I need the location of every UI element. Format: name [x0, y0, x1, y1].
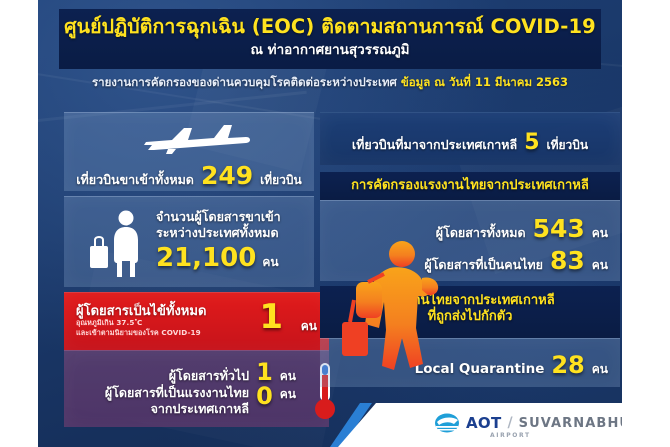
breakdown-korea-worker-unit: คน	[280, 385, 296, 404]
breakdown-row-korea-worker: ผู้โดยสารที่เป็นแรงงานไทย จากประเทศเกาหล…	[64, 385, 296, 416]
aot-swoosh-icon	[434, 413, 460, 433]
card-fever-breakdown: ผู้โดยสารทั่วไป 1 คน ผู้โดยสารที่เป็นแรง…	[64, 350, 329, 427]
screening-thai-unit: คน	[592, 256, 608, 275]
korea-flights-label: เที่ยวบินที่มาจากประเทศเกาหลี	[352, 137, 517, 153]
fever-criteria-line1: อุณหภูมิเกิน 37.5 ํC	[76, 318, 201, 328]
breakdown-korea-worker-label-line2: จากประเทศเกาหลี	[151, 401, 249, 416]
page-title: ศูนย์ปฏิบัติการฉุกเฉิน (EOC) ติดตามสถานก…	[59, 15, 601, 38]
airplane-icon	[142, 121, 252, 155]
traveler-with-suitcase-icon	[88, 209, 150, 279]
header-band: ศูนย์ปฏิบัติการฉุกเฉิน (EOC) ติดตามสถานก…	[59, 9, 601, 69]
screening-header-band: การคัดกรองแรงงานไทยจากประเทศเกาหลี	[320, 172, 620, 200]
footer-airport-sub: AIRPORT	[490, 432, 531, 439]
report-description: รายงานการคัดกรองของด่านควบคุมโรคติดต่อระ…	[92, 75, 397, 89]
screening-total-unit: คน	[592, 224, 608, 243]
breakdown-general-unit: คน	[280, 367, 296, 386]
breakdown-korea-worker-value: 0	[256, 385, 273, 408]
backpacker-traveler-icon	[338, 238, 456, 398]
total-passengers-label-line2: ระหว่างประเทศทั้งหมด	[156, 225, 306, 241]
breakdown-korea-worker-label: ผู้โดยสารที่เป็นแรงงานไทย จากประเทศเกาหล…	[105, 385, 249, 416]
fever-criteria-line2: และเข้าตามนิยามของโรค COVID-19	[76, 328, 201, 338]
korea-flights-unit: เที่ยวบิน	[547, 136, 589, 155]
korea-flights-row: เที่ยวบินที่มาจากประเทศเกาหลี 5 เที่ยวบิ…	[320, 130, 620, 155]
poster-panel: ศูนย์ปฏิบัติการฉุกเฉิน (EOC) ติดตามสถานก…	[38, 0, 622, 447]
report-date-line: รายงานการคัดกรองของด่านควบคุมโรคติดต่อระ…	[59, 76, 601, 90]
total-passengers-label: จำนวนผู้โดยสารขาเข้า ระหว่างประเทศทั้งหม…	[156, 209, 306, 240]
total-passengers-label-line1: จำนวนผู้โดยสารขาเข้า	[156, 209, 306, 225]
screening-thai-value: 83	[550, 246, 585, 275]
card-total-flights: เที่ยวบินขาเข้าทั้งหมด 249 เที่ยวบิน	[64, 112, 314, 191]
aot-brand-text: AOT	[466, 414, 502, 432]
total-passengers-value-row: 21,100 คน	[156, 243, 279, 273]
local-quarantine-unit: คน	[592, 360, 608, 379]
footer-airport-name: SUVARNABHUMI	[519, 416, 622, 431]
footer-band: AOT / SUVARNABHUMI / AIRPORT	[338, 403, 622, 447]
report-date: ข้อมูล ณ วันที่ 11 มีนาคม 2563	[401, 75, 568, 89]
footer-separator-1: /	[508, 415, 513, 431]
total-passengers-unit: คน	[262, 253, 278, 272]
breakdown-korea-worker-label-line1: ผู้โดยสารที่เป็นแรงงานไทย	[105, 385, 249, 400]
korea-flights-value: 5	[524, 130, 539, 155]
breakdown-general-label: ผู้โดยสารทั่วไป	[169, 368, 249, 384]
fever-value: 1	[259, 297, 283, 337]
aot-logo: AOT / SUVARNABHUMI /	[434, 413, 622, 433]
fever-unit: คน	[301, 317, 317, 336]
total-flights-label: เที่ยวบินขาเข้าทั้งหมด	[76, 172, 194, 188]
total-passengers-value: 21,100	[156, 243, 256, 273]
card-fever-passengers: ผู้โดยสารเป็นไข้ทั้งหมด อุณหภูมิเกิน 37.…	[64, 292, 329, 351]
local-quarantine-value: 28	[551, 351, 584, 379]
screening-total-value: 543	[533, 214, 585, 243]
page-subtitle: ณ ท่าอากาศยานสุวรรณภูมิ	[59, 42, 601, 58]
card-korea-flights: เที่ยวบินที่มาจากประเทศเกาหลี 5 เที่ยวบิ…	[320, 112, 620, 165]
total-flights-value: 249	[201, 161, 253, 190]
infographic-screen: ศูนย์ปฏิบัติการฉุกเฉิน (EOC) ติดตามสถานก…	[0, 0, 670, 447]
screening-header-text: การคัดกรองแรงงานไทยจากประเทศเกาหลี	[320, 172, 620, 194]
total-flights-row: เที่ยวบินขาเข้าทั้งหมด 249 เที่ยวบิน	[64, 161, 314, 190]
fever-criteria: อุณหภูมิเกิน 37.5 ํC และเข้าตามนิยามของโ…	[76, 318, 201, 339]
breakdown-general-value: 1	[256, 361, 273, 384]
total-flights-unit: เที่ยวบิน	[260, 171, 302, 190]
card-total-passengers: จำนวนผู้โดยสารขาเข้า ระหว่างประเทศทั้งหม…	[64, 196, 314, 287]
